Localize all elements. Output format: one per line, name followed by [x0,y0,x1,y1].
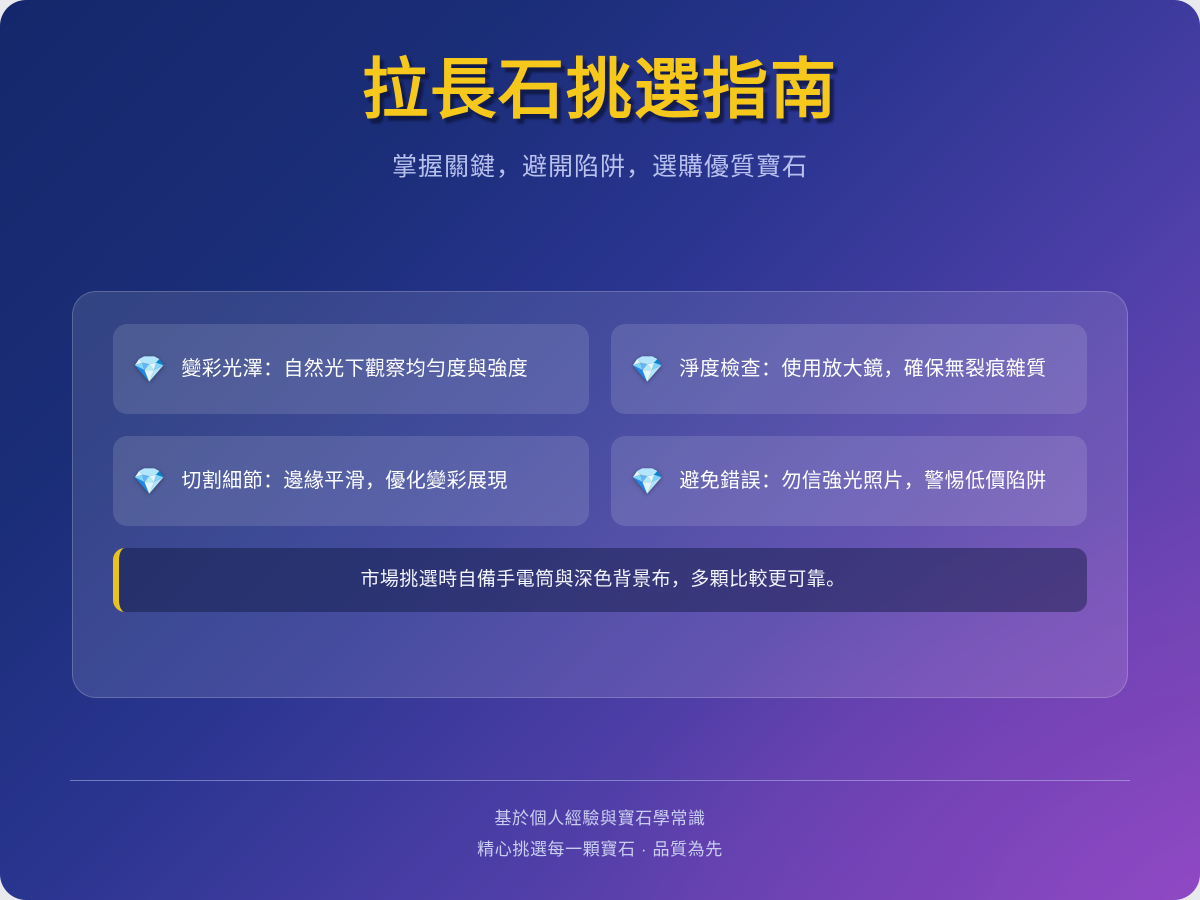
tip-card-label: 切割細節：邊緣平滑，優化變彩展現 [181,467,507,496]
tip-card-color-play[interactable]: 💎 變彩光澤：自然光下觀察均勻度與強度 [113,324,589,414]
tip-card-avoid-mistakes[interactable]: 💎 避免錯誤：勿信強光照片，警惕低價陷阱 [611,436,1087,526]
tips-grid: 💎 變彩光澤：自然光下觀察均勻度與強度 💎 淨度檢查：使用放大鏡，確保無裂痕雜質… [113,324,1087,526]
gem-stone-icon: 💎 [631,468,663,494]
gem-stone-icon: 💎 [133,468,165,494]
tip-card-label: 變彩光澤：自然光下觀察均勻度與強度 [181,355,528,384]
tip-card-label: 淨度檢查：使用放大鏡，確保無裂痕雜質 [679,355,1046,384]
gem-stone-icon: 💎 [631,356,663,382]
note-callout: 市場挑選時自備手電筒與深色背景布，多顆比較更可靠。 [113,548,1087,612]
tip-card-label: 避免錯誤：勿信強光照片，警惕低價陷阱 [679,467,1046,496]
note-callout-text: 市場挑選時自備手電筒與深色背景布，多顆比較更可靠。 [360,567,845,594]
page-subtitle: 掌握關鍵，避開陷阱，選購優質寶石 [0,151,1200,184]
tip-card-clarity-check[interactable]: 💎 淨度檢查：使用放大鏡，確保無裂痕雜質 [611,324,1087,414]
gem-stone-icon: 💎 [133,356,165,382]
tip-card-cut-detail[interactable]: 💎 切割細節：邊緣平滑，優化變彩展現 [113,436,589,526]
footer-line-source: 基於個人經驗與寶石學常識 [70,803,1130,834]
page-title: 拉長石挑選指南 [0,54,1200,125]
footer-line-tagline: 精心挑選每一顆寶石 · 品質為先 [70,834,1130,865]
slide-footer: 基於個人經驗與寶石學常識 精心挑選每一顆寶石 · 品質為先 [70,780,1130,866]
content-panel: 💎 變彩光澤：自然光下觀察均勻度與強度 💎 淨度檢查：使用放大鏡，確保無裂痕雜質… [72,291,1128,698]
slide-header: 拉長石挑選指南 掌握關鍵，避開陷阱，選購優質寶石 [0,54,1200,184]
footer-divider [70,780,1130,781]
slide-canvas: 拉長石挑選指南 掌握關鍵，避開陷阱，選購優質寶石 💎 變彩光澤：自然光下觀察均勻… [0,0,1200,900]
